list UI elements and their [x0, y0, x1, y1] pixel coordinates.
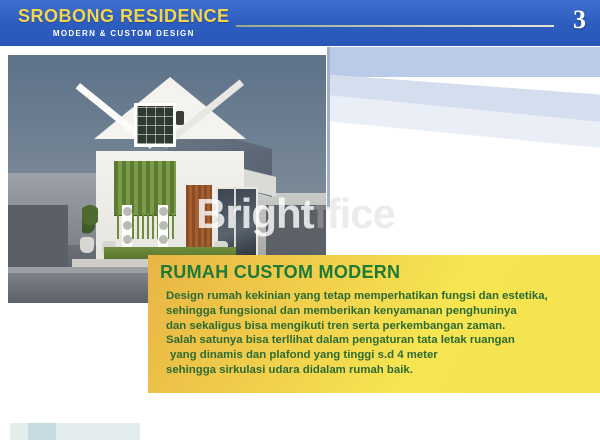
planter-pot [80, 237, 94, 253]
brand-subtitle: MODERN & CUSTOM DESIGN [18, 28, 230, 39]
bottom-decorative-bar-accent [28, 423, 56, 440]
decor-dot [123, 221, 132, 230]
card-body-line: Design rumah kekinian yang tetap memperh… [166, 289, 596, 304]
wall-lamp [176, 111, 184, 125]
brand-title: SROBONG RESIDENCE [18, 6, 230, 26]
card-body-line: sehingga fungsional dan memberikan kenya… [166, 304, 596, 319]
decor-dot [123, 207, 132, 216]
wooden-slat-door [186, 185, 212, 255]
card-body-line: yang dinamis dan plafond yang tinggi s.d… [166, 348, 596, 363]
page-number: 3 [573, 5, 586, 35]
panel-band-top [327, 47, 600, 77]
slide: SROBONG RESIDENCE MODERN & CUSTOM DESIGN… [0, 0, 600, 440]
header-divider-line [236, 25, 554, 27]
card-body-line: dan sekaligus bisa mengikuti tren serta … [166, 319, 596, 334]
decor-dot [123, 235, 132, 244]
card-body-line: Salah satunya bisa terllihat dalam penga… [166, 333, 596, 348]
slide-header: SROBONG RESIDENCE MODERN & CUSTOM DESIGN… [0, 0, 600, 46]
decor-dot [159, 221, 168, 230]
attic-window [134, 103, 176, 147]
card-title: RUMAH CUSTOM MODERN [160, 261, 400, 283]
decor-dot [159, 207, 168, 216]
attic-window-grid [137, 106, 173, 144]
decor-dot [159, 235, 168, 244]
brand-block: SROBONG RESIDENCE MODERN & CUSTOM DESIGN [18, 6, 230, 39]
description-card: RUMAH CUSTOM MODERN Design rumah kekinia… [148, 255, 600, 393]
window-mullion [234, 187, 236, 253]
card-body: Design rumah kekinian yang tetap memperh… [166, 289, 596, 378]
panel-left-edge [327, 47, 330, 207]
garden-plant [82, 205, 98, 239]
card-body-line: sehingga sirkulasi udara didalam rumah b… [166, 363, 596, 378]
right-decorative-panel [327, 47, 600, 207]
